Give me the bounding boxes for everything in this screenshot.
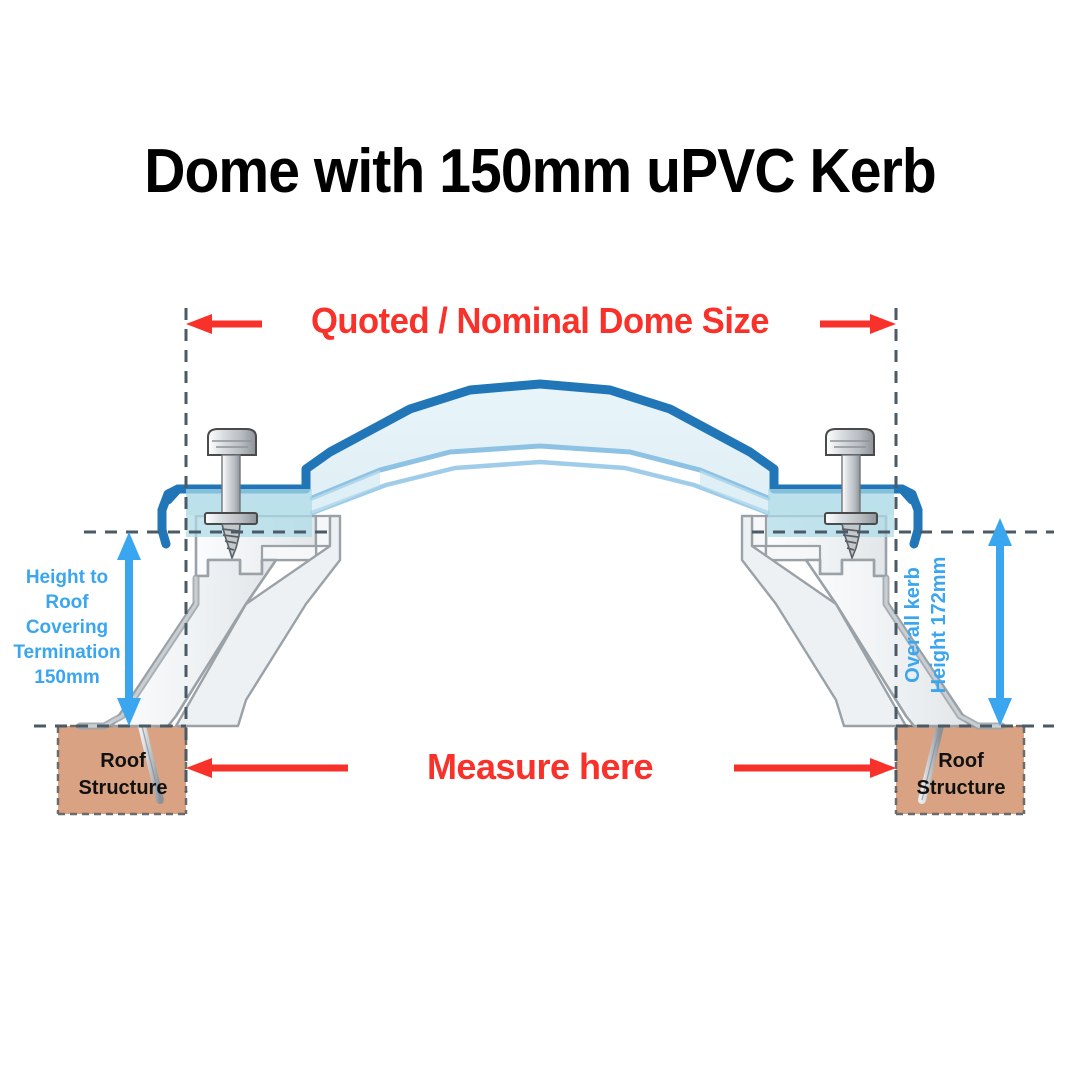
dome-size-dimension-label: Quoted / Nominal Dome Size [252,300,828,342]
roof-structure-label-right: Roof Structure [898,748,1024,802]
height-to-roof-covering-label: Height to Roof Covering Termination 150m… [2,565,132,690]
overall-kerb-height-label: Overall kerb Height 172mm [900,530,1080,720]
measure-here-label: Measure here [340,746,740,788]
roof-structure-label-left: Roof Structure [60,748,186,802]
dome-glazing [168,384,912,537]
diagram-canvas: Dome with 150mm uPVC Kerb [0,0,1080,1080]
